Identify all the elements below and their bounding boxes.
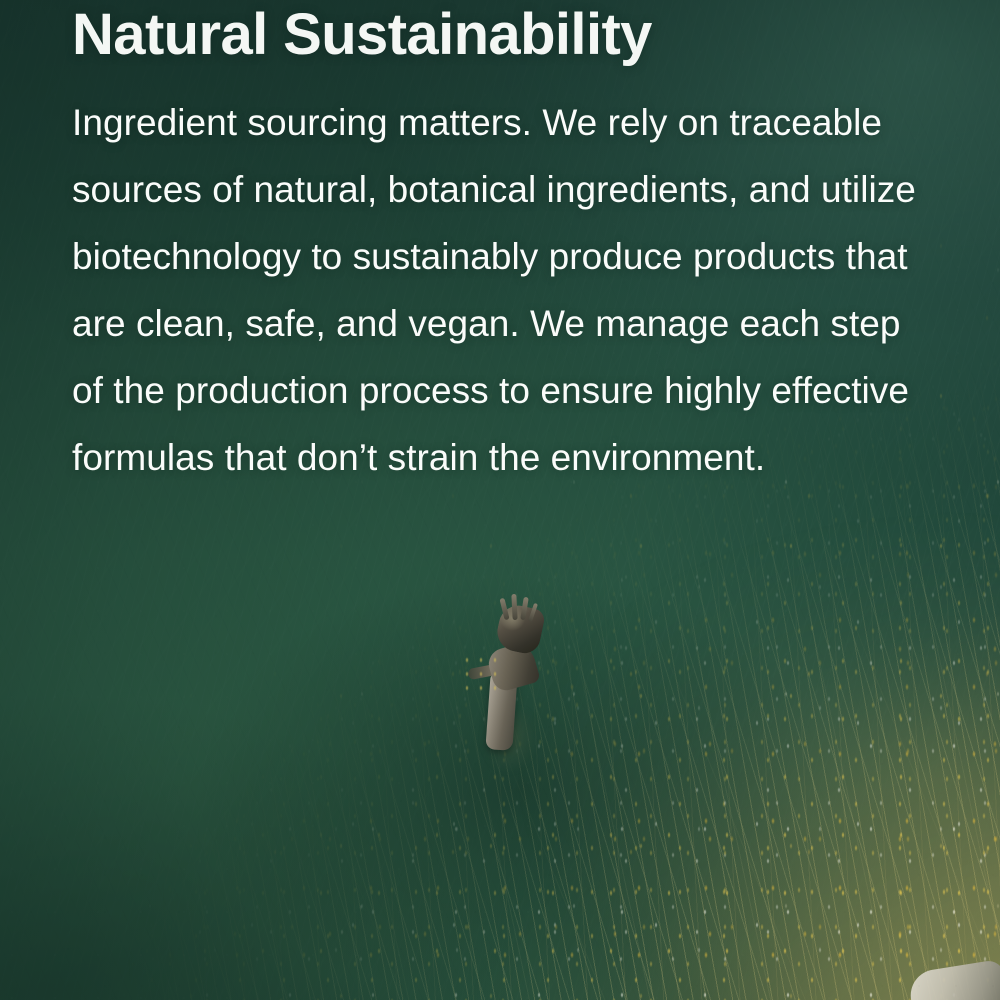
natural-sustainability-card: Natural Sustainability Ingredient sourci… [0,0,1000,1000]
body-paragraph: Ingredient sourcing matters. We rely on … [72,89,934,491]
content-block: Natural Sustainability Ingredient sourci… [72,0,936,491]
page-title: Natural Sustainability [72,4,936,67]
